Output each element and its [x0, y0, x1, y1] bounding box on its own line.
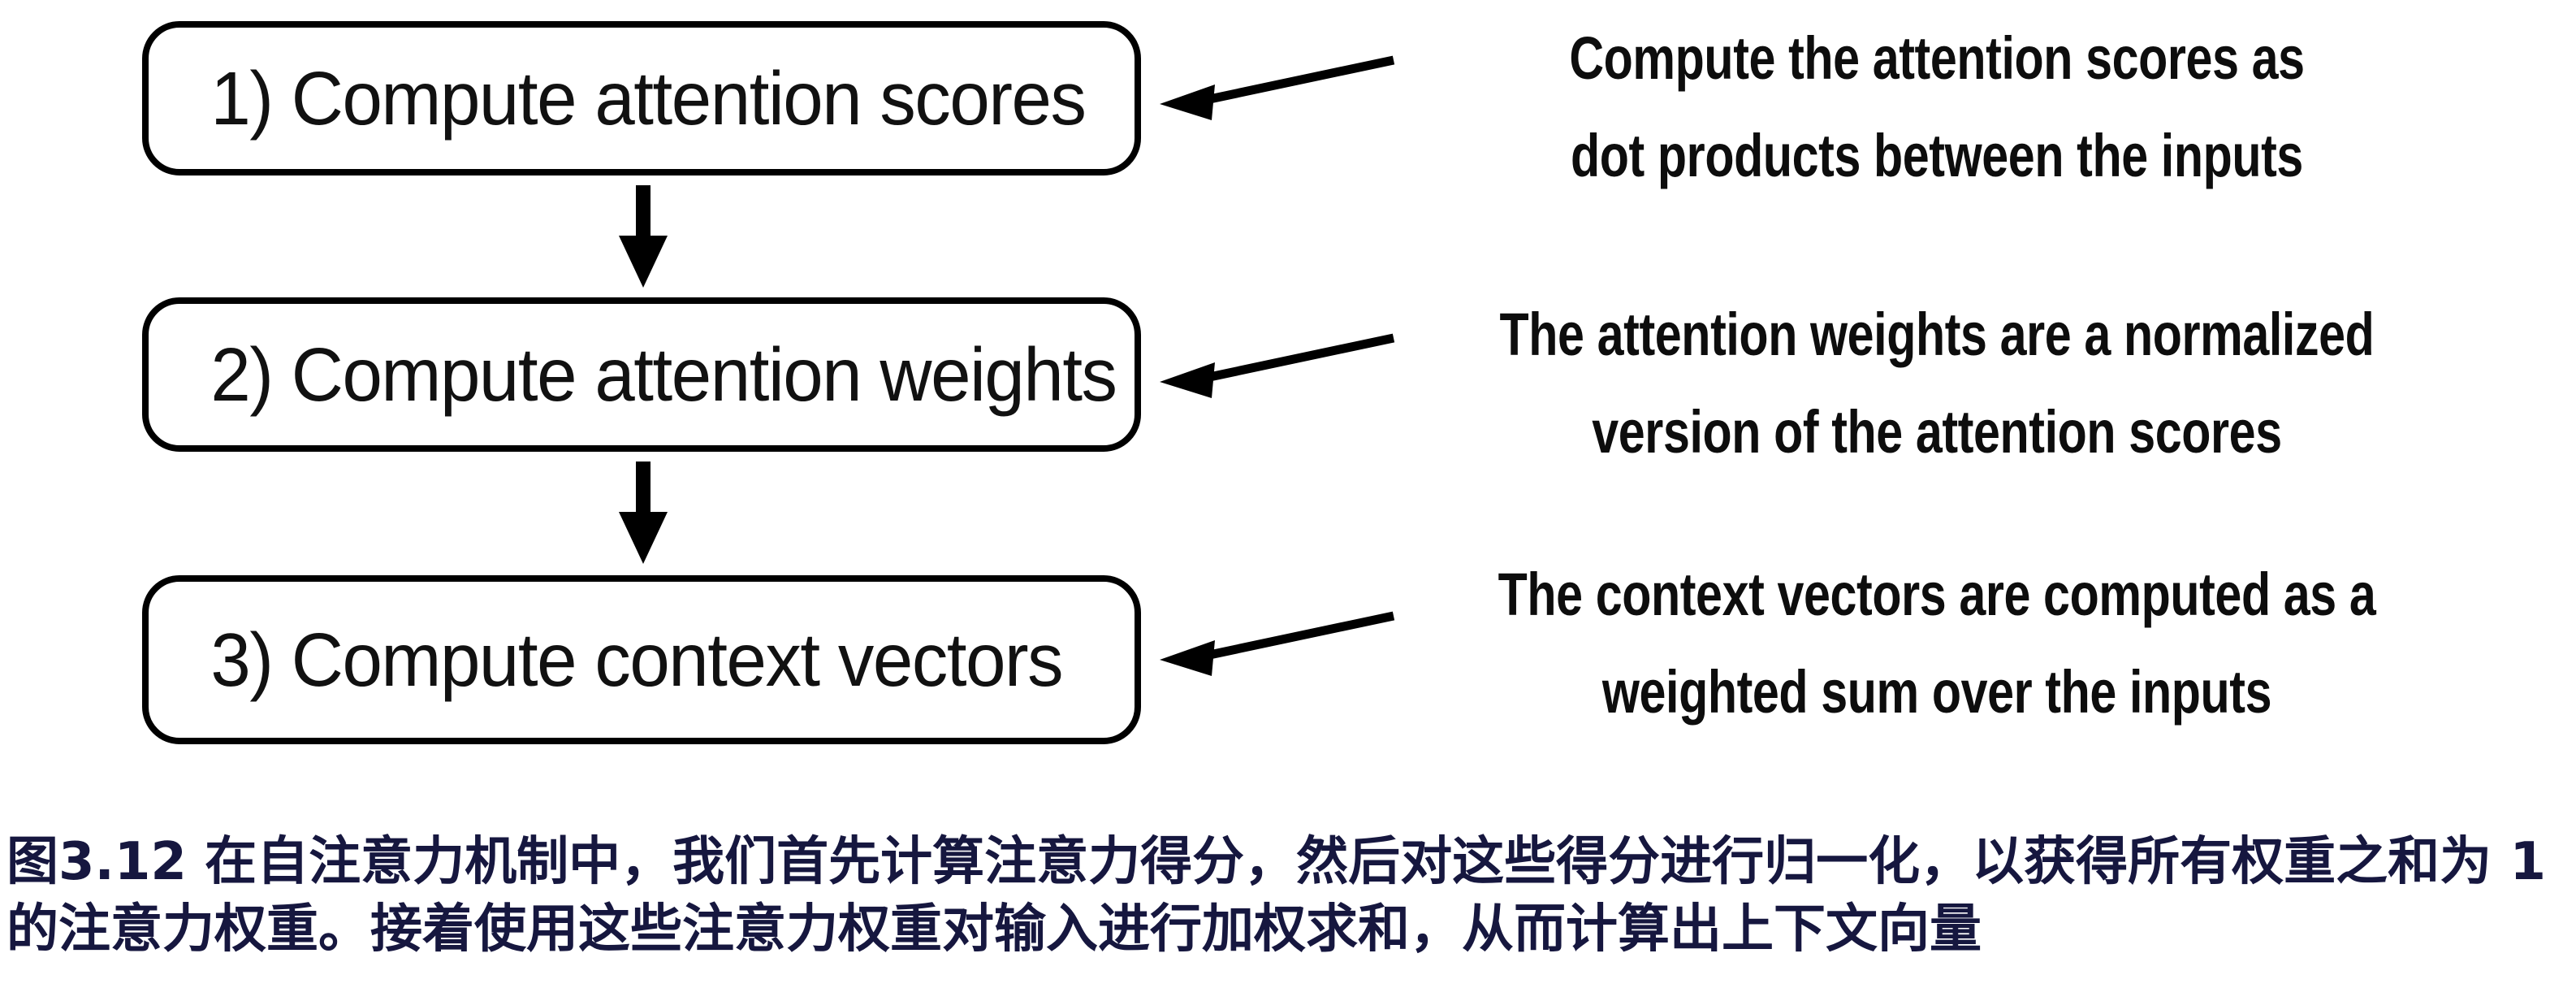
flow-step-box-3: 3) Compute context vectors: [142, 575, 1141, 744]
annotation-step-3-line-2: weighted sum over the inputs: [1485, 643, 2388, 741]
annotation-step-1-line-2: dot products between the inputs: [1492, 107, 2382, 205]
flow-step-label-3: 3) Compute context vectors: [149, 622, 1062, 698]
annotation-step-3: The context vectors are computed as a we…: [1372, 546, 2501, 741]
annotation-step-2-line-2: version of the attention scores: [1485, 383, 2388, 481]
left-arrow-icon: [1153, 47, 1397, 145]
annotation-step-3-line-1: The context vectors are computed as a: [1485, 546, 2388, 643]
annotation-step-1: Compute the attention scores as dot prod…: [1381, 10, 2493, 205]
flow-step-label-2: 2) Compute attention weights: [149, 337, 1117, 413]
figure-caption-line-1: 图3.12 在自注意力机制中，我们首先计算注意力得分，然后对这些得分进行归一化，…: [6, 829, 2573, 896]
left-arrow-icon: [1153, 603, 1397, 700]
flow-step-label-1: 1) Compute attention scores: [149, 61, 1085, 136]
figure-canvas: 1) Compute attention scores 2) Compute a…: [0, 0, 2576, 988]
figure-caption-line-2: 的注意力权重。接着使用这些注意力权重对输入进行加权求和，从而计算出上下文向量: [6, 896, 2573, 964]
annotation-step-2: The attention weights are a normalized v…: [1372, 286, 2501, 481]
annotation-step-2-line-1: The attention weights are a normalized: [1485, 286, 2388, 383]
flow-step-box-1: 1) Compute attention scores: [142, 21, 1141, 175]
down-arrow-icon: [615, 185, 672, 289]
figure-caption: 图3.12 在自注意力机制中，我们首先计算注意力得分，然后对这些得分进行归一化，…: [6, 829, 2573, 964]
annotation-step-1-line-1: Compute the attention scores as: [1492, 10, 2382, 107]
left-arrow-icon: [1153, 325, 1397, 422]
down-arrow-icon: [615, 461, 672, 565]
flow-step-box-2: 2) Compute attention weights: [142, 297, 1141, 452]
